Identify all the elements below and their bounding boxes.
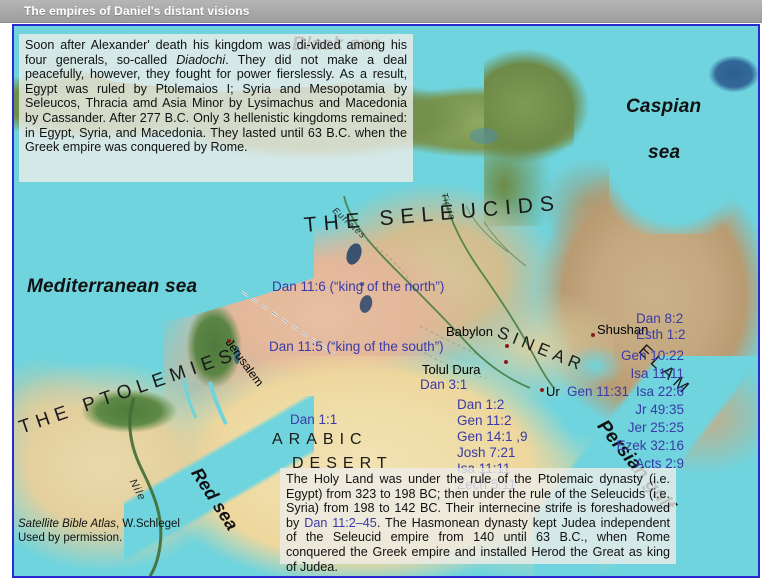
reference-arabic-desert: Dan 1:1 [290, 412, 337, 427]
reference-central-1: Gen 11:2 [457, 413, 512, 428]
reference-central-0: Dan 1:2 [457, 397, 504, 412]
region-label-arabic: ARABIC [272, 431, 368, 449]
city-dot-babylon [505, 344, 509, 348]
reference-central-2: Gen 14:1 ,9 [457, 429, 528, 444]
reference-elam-0: Gen 10:22 [621, 348, 684, 363]
reference-shushan-1: Esth 1:2 [636, 327, 686, 342]
diadochi-note: Soon after Alexander' death his kingdom … [19, 34, 413, 182]
reference-elam-1: Isa 11:11 [630, 366, 684, 381]
attribution-source-title: Satellite Bible Atlas [18, 518, 116, 530]
map-page: The empires of Daniel's distant visions [0, 0, 762, 580]
reference-tolul-dura: Dan 3:1 [420, 377, 467, 392]
city-label-tolul-dura: Tolul Dura [422, 362, 481, 377]
attribution-author: , W.Schlegel [116, 518, 180, 530]
attribution: Satellite Bible Atlas, W.Schlegel Used b… [18, 517, 180, 545]
pointer-dash-line [236, 284, 356, 374]
diadochi-note-part2: . They did not make a deal peacefully, h… [25, 53, 407, 155]
reference-elam-4: Jer 25:25 [628, 420, 684, 435]
reference-elam-2: Isa 22:6 [636, 384, 684, 399]
reference-elam-5: Ezek 32:16 [616, 438, 684, 453]
holy-land-note: The Holy Land was under the rule of the … [280, 468, 676, 564]
diadochi-note-italic: Diadochi [176, 53, 225, 67]
city-dot-shushan [591, 333, 595, 337]
sea-label-caspian-line2: sea [648, 142, 680, 164]
reference-central-3: Josh 7:21 [457, 445, 516, 460]
reference-shushan-0: Dan 8:2 [636, 311, 683, 326]
city-label-babylon: Babylon [446, 324, 493, 339]
holy-land-note-reference: Dan 11:2–45 [304, 516, 377, 530]
city-dot-babylon-alt [504, 360, 508, 364]
city-label-ur: Ur [546, 384, 560, 399]
window-titlebar: The empires of Daniel's distant visions [0, 0, 762, 23]
reference-king-of-the-south: Dan 11:5 (“king of the south”) [269, 339, 444, 354]
page-title: The empires of Daniel's distant visions [24, 4, 249, 18]
map-frame: Black sea Caspian sea Mediterranean sea … [12, 24, 760, 578]
attribution-permission: Used by permission. [18, 531, 180, 545]
reference-king-of-the-north: Dan 11:6 (“king of the north”) [272, 279, 444, 294]
sea-label-caspian-line1: Caspian [626, 96, 701, 118]
water-aral [704, 54, 758, 96]
reference-ur: Gen 11:31 [567, 384, 629, 399]
city-dot-ur [540, 388, 544, 392]
reference-elam-3: Jr 49:35 [635, 402, 684, 417]
map-canvas: Black sea Caspian sea Mediterranean sea … [14, 26, 758, 576]
sea-label-mediterranean: Mediterranean sea [27, 276, 197, 298]
